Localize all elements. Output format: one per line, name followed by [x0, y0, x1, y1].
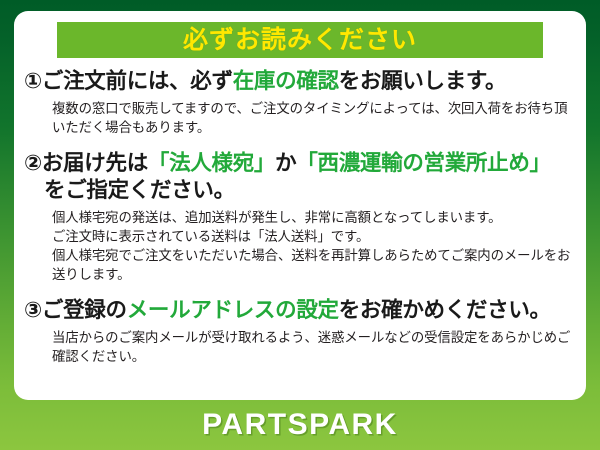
notice-item-3: ③ご登録のメールアドレスの設定をお確かめください。 当店からのご案内メールが受け…	[24, 297, 578, 367]
notice-card: 必ずお読みください ①ご注文前には、必ず在庫の確認をお願いします。 複数の窓口で…	[0, 0, 600, 450]
notice-item-1: ①ご注文前には、必ず在庫の確認をお願いします。 複数の窓口で販売してますので、ご…	[24, 68, 578, 137]
heading-segment-highlight: 「法人様宛」	[148, 151, 275, 175]
notice-items-list: ①ご注文前には、必ず在庫の確認をお願いします。 複数の窓口で販売してますので、ご…	[14, 68, 586, 370]
notice-item-1-heading: ①ご注文前には、必ず在庫の確認をお願いします。	[24, 68, 578, 96]
heading-segment-highlight: 「西濃運輸の営業所止め」	[296, 151, 550, 175]
heading-segment-highlight: 在庫の確認	[233, 69, 339, 93]
notice-item-3-heading: ③ご登録のメールアドレスの設定をお確かめください。	[24, 297, 578, 325]
notice-item-2-heading: ②お届け先は「法人様宛」か「西濃運輸の営業所止め」 をご指定ください。	[24, 150, 578, 205]
page-title: 必ずお読みください	[183, 28, 417, 53]
notice-item-3-body: 当店からのご案内メールが受け取れるよう、迷惑メールなどの受信設定をあらかじめご確…	[24, 328, 578, 366]
heading-segment-plain: をお願いします。	[339, 69, 506, 93]
heading-segment-plain: をお確かめください。	[339, 298, 551, 322]
white-content-panel: 必ずお読みください ①ご注文前には、必ず在庫の確認をお願いします。 複数の窓口で…	[14, 11, 586, 400]
header-banner: 必ずお読みください	[57, 22, 543, 58]
heading-segment-plain: ③ご登録の	[24, 298, 127, 322]
heading-segment-line2: をご指定ください。	[24, 177, 578, 205]
heading-segment-highlight: メールアドレスの設定	[127, 298, 339, 322]
notice-item-2-body: 個人様宅宛の発送は、追加送料が発生し、非常に高額となってしまいます。 ご注文時に…	[24, 208, 578, 284]
notice-item-1-body: 複数の窓口で販売してますので、ご注文のタイミングによっては、次回入荷をお待ち頂い…	[24, 99, 578, 137]
heading-segment-plain: か	[275, 151, 296, 175]
brand-footer: PARTSPARK	[0, 400, 600, 450]
brand-wordmark: PARTSPARK	[202, 410, 398, 440]
heading-segment-plain: ①ご注文前には、必ず	[24, 69, 233, 93]
heading-segment-plain: ②お届け先は	[24, 151, 148, 175]
notice-item-2: ②お届け先は「法人様宛」か「西濃運輸の営業所止め」 をご指定ください。 個人様宅…	[24, 150, 578, 284]
